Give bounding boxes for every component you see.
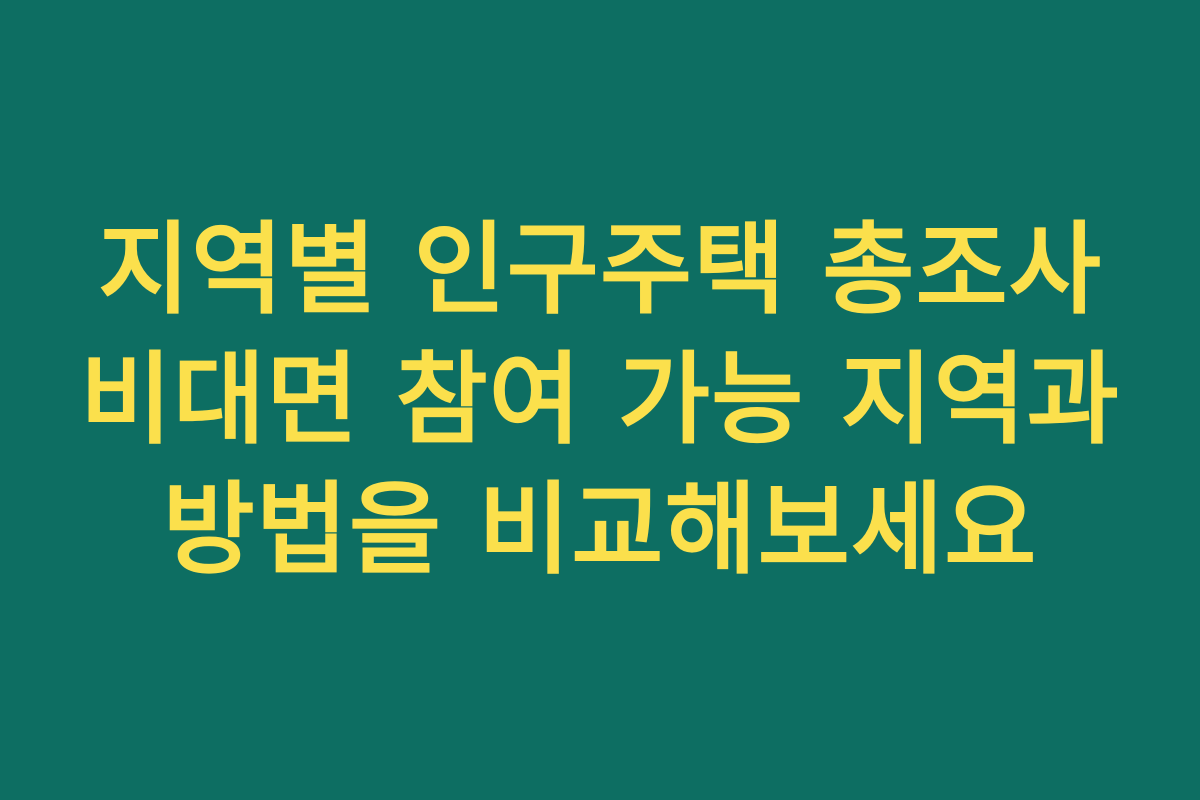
headline-line-3: 방법을 비교해보세요: [163, 465, 1038, 595]
headline-block: 지역별 인구주택 총조사 비대면 참여 가능 지역과 방법을 비교해보세요: [0, 205, 1200, 595]
headline-line-2: 비대면 참여 가능 지역과: [80, 335, 1120, 465]
promo-banner: 지역별 인구주택 총조사 비대면 참여 가능 지역과 방법을 비교해보세요: [0, 0, 1200, 800]
headline-line-1: 지역별 인구주택 총조사: [98, 205, 1102, 335]
